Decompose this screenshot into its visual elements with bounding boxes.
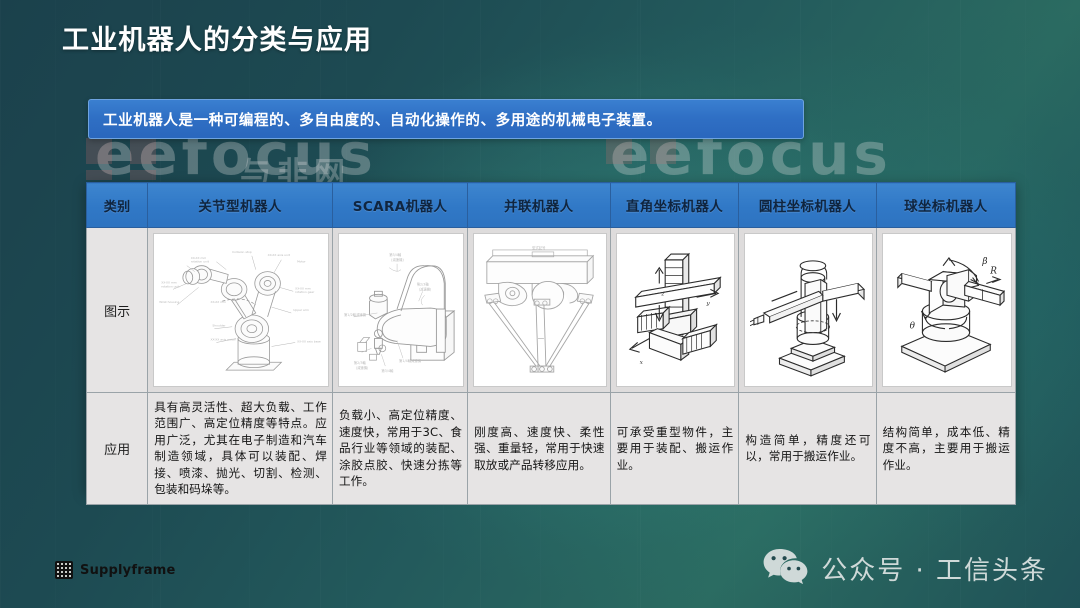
svg-text:第3/4軸: 第3/4軸 [381, 367, 394, 372]
svg-text:θ: θ [909, 321, 915, 331]
svg-text:XX-XX axis base: XX-XX axis base [297, 339, 321, 343]
robot-classification-table: 类别 关节型机器人 SCARA机器人 并联机器人 直角坐标机器人 圆柱坐标机器人… [86, 182, 1016, 492]
scara-robot-diagram: 第3/4軸(減速機) 第2/3軸(減速機) 第1/2軸減速機 第2/3軸(減速機… [338, 233, 464, 387]
application-spherical: 结构简单，成本低、精度不高，主要用于搬运作业。 [876, 393, 1015, 505]
table-row-application: 应用 具有高灵活性、超大负载、工作范围广、高定位精度等特点。应用广泛，尤其在电子… [87, 393, 1016, 505]
svg-text:第2/3軸: 第2/3軸 [354, 360, 367, 365]
row-label-application: 应用 [87, 393, 148, 505]
application-cartesian: 可承受重型物件，主要用于装配、搬运作业。 [610, 393, 739, 505]
svg-text:Shoulder: Shoulder [213, 323, 227, 327]
svg-text:第2/3軸: 第2/3軸 [417, 281, 430, 286]
delta-robot-diagram: 型式記号 [473, 233, 607, 387]
subtitle-banner: 工业机器人是一种可编程的、多自由度的、自动化操作的、多用途的机械电子装置。 [88, 99, 804, 139]
svg-text:Motor: Motor [297, 259, 306, 263]
col-header-scara: SCARA机器人 [332, 183, 467, 228]
supplyframe-logo-text: Supplyframe [80, 563, 176, 578]
svg-text:第1/4軸減速機: 第1/4軸減速機 [399, 358, 422, 363]
diagram-cell-scara: 第3/4軸(減速機) 第2/3軸(減速機) 第1/2軸減速機 第2/3軸(減速機… [332, 228, 467, 393]
slide-root: eefocus eefocus 与非网 eefocus eefocus 与非网 … [0, 0, 1080, 608]
svg-text:R: R [989, 266, 997, 276]
subtitle-text: 工业机器人是一种可编程的、多自由度的、自动化操作的、多用途的机械电子装置。 [89, 109, 662, 130]
application-delta: 刚度高、速度快、柔性强、重量轻，常用于快速取放或产品转移应用。 [468, 393, 611, 505]
wechat-icon [762, 547, 808, 589]
svg-text:XX-XX mm: XX-XX mm [211, 300, 227, 304]
diagram-cell-cartesian: z y x [610, 228, 739, 393]
svg-text:Upper arm: Upper arm [293, 307, 309, 311]
svg-text:XX-XX axis unit: XX-XX axis unit [268, 252, 291, 256]
application-scara: 负载小、高定位精度、速度快，常用于3C、食品行业等领域的装配、涂胶点胶、快速分拣… [332, 393, 467, 505]
svg-text:x: x [640, 360, 644, 366]
svg-text:rotation gear: rotation gear [295, 290, 315, 294]
svg-text:Collision stop: Collision stop [232, 249, 252, 253]
svg-text:(減速機): (減速機) [356, 365, 369, 370]
svg-text:型式記号: 型式記号 [532, 244, 546, 249]
spherical-robot-diagram: β R θ [882, 233, 1012, 387]
svg-text:β: β [981, 256, 987, 266]
svg-text:第3/4軸: 第3/4軸 [389, 251, 402, 256]
application-cylindrical: 构造简单，精度还可以，常用于搬运作业。 [739, 393, 876, 505]
col-header-cartesian: 直角坐标机器人 [610, 183, 739, 228]
col-header-category: 类别 [87, 183, 148, 228]
svg-text:XX-XX axis motor: XX-XX axis motor [211, 337, 237, 341]
col-header-spherical: 球坐标机器人 [876, 183, 1015, 228]
page-title: 工业机器人的分类与应用 [62, 18, 372, 57]
supplyframe-logo: Supplyframe [55, 561, 176, 579]
diagram-cell-delta: 型式記号 [468, 228, 611, 393]
svg-text:rotation unit: rotation unit [161, 284, 180, 288]
row-label-diagram: 图示 [87, 228, 148, 393]
wechat-account-tag: 公众号 · 工信头条 [762, 547, 1048, 589]
articulated-robot-diagram: XX-XX mmrotation unit Collision stop XX-… [153, 233, 329, 387]
cartesian-robot-diagram: z y x [616, 233, 736, 387]
svg-text:y: y [706, 301, 711, 307]
application-articulated: 具有高灵活性、超大负载、工作范围广、高定位精度等特点。应用广泛，尤其在电子制造和… [148, 393, 333, 505]
col-header-articulated: 关节型机器人 [148, 183, 333, 228]
cylindrical-robot-diagram [744, 233, 872, 387]
diagram-cell-articulated: XX-XX mmrotation unit Collision stop XX-… [148, 228, 333, 393]
grid-mesh-icon [55, 561, 73, 579]
svg-text:第1/2軸減速機: 第1/2軸減速機 [344, 311, 367, 316]
col-header-cylindrical: 圆柱坐标机器人 [739, 183, 876, 228]
svg-text:(減速機): (減速機) [419, 286, 432, 291]
svg-text:rotation unit: rotation unit [191, 259, 210, 263]
table-row-diagram: 图示 [87, 228, 1016, 393]
watermark-red-blocks-top [86, 138, 946, 178]
svg-text:Wrist housing: Wrist housing [159, 300, 179, 304]
svg-text:(減速機): (減速機) [391, 256, 404, 261]
diagram-cell-spherical: β R θ [876, 228, 1015, 393]
diagram-cell-cylindrical [739, 228, 876, 393]
wechat-account-label: 公众号 · 工信头条 [821, 550, 1048, 587]
col-header-delta: 并联机器人 [468, 183, 611, 228]
table-header-row: 类别 关节型机器人 SCARA机器人 并联机器人 直角坐标机器人 圆柱坐标机器人… [87, 183, 1016, 228]
